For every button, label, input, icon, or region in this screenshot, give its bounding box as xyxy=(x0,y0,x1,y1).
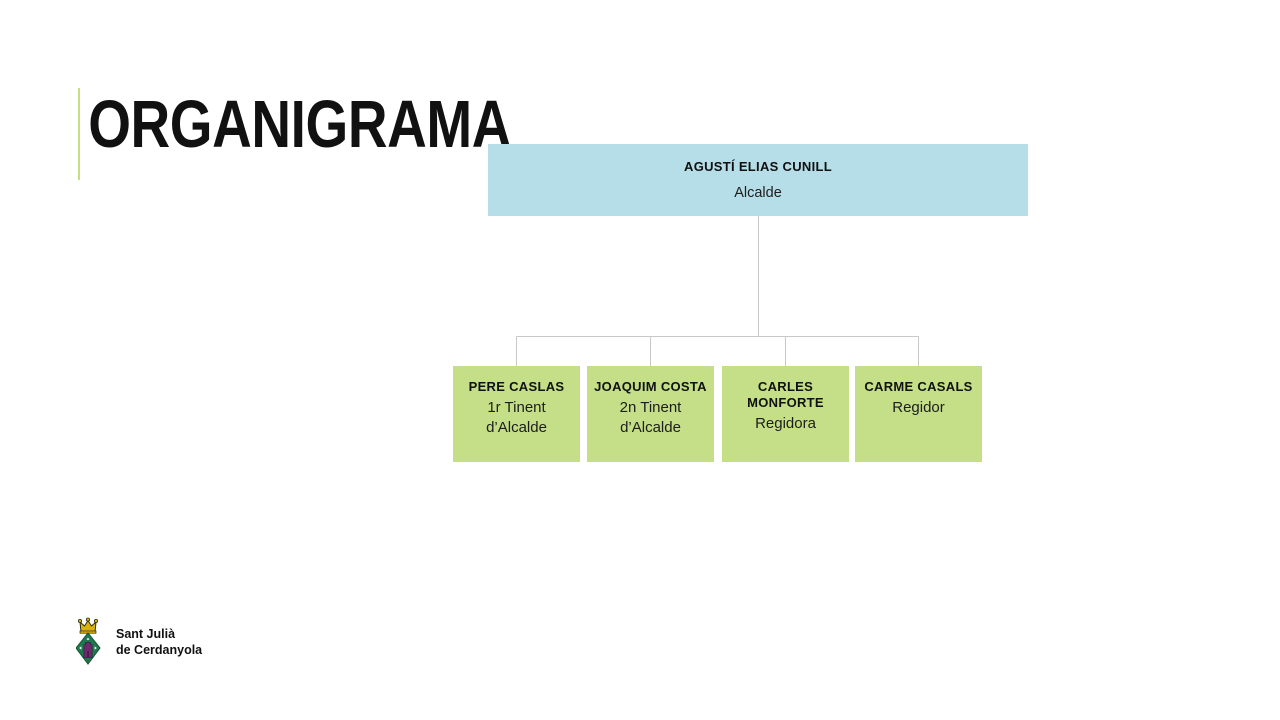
org-node-root[interactable]: AGUSTÍ ELIAS CUNILL Alcalde xyxy=(488,144,1028,216)
logo: Sant Julià de Cerdanyola xyxy=(76,616,256,668)
org-node-name: CARME CASALS xyxy=(861,379,976,395)
org-node-child-0[interactable]: PERE CASLAS 1r Tinent d’Alcalde xyxy=(453,366,580,462)
org-chart: AGUSTÍ ELIAS CUNILL Alcalde PERE CASLAS … xyxy=(0,0,1280,720)
shield-icon xyxy=(76,633,100,664)
org-node-name: JOAQUIM COSTA xyxy=(593,379,708,395)
org-node-role: Regidora xyxy=(728,411,843,434)
org-node-role: Regidor xyxy=(861,395,976,418)
crown-icon xyxy=(78,618,97,633)
slide-canvas: ORGANIGRAMA AGUSTÍ ELIAS CUNILL Alcalde … xyxy=(0,0,1280,720)
org-node-name: PERE CASLAS xyxy=(459,379,574,395)
org-node-name: CARLES MONFORTE xyxy=(728,379,843,411)
org-node-role: Alcalde xyxy=(488,175,1028,203)
org-node-child-1[interactable]: JOAQUIM COSTA 2n Tinent d’Alcalde xyxy=(587,366,714,462)
org-node-role: 1r Tinent d’Alcalde xyxy=(459,395,574,438)
org-node-role: 2n Tinent d’Alcalde xyxy=(593,395,708,438)
org-node-child-2[interactable]: CARLES MONFORTE Regidora xyxy=(722,366,849,462)
coat-of-arms-icon xyxy=(76,617,112,667)
logo-text-line-1: Sant Julià xyxy=(116,626,202,642)
org-node-name: AGUSTÍ ELIAS CUNILL xyxy=(488,159,1028,175)
logo-text: Sant Julià de Cerdanyola xyxy=(112,626,202,658)
org-node-child-3[interactable]: CARME CASALS Regidor xyxy=(855,366,982,462)
logo-text-line-2: de Cerdanyola xyxy=(116,642,202,658)
org-chart-connectors xyxy=(0,0,1280,720)
